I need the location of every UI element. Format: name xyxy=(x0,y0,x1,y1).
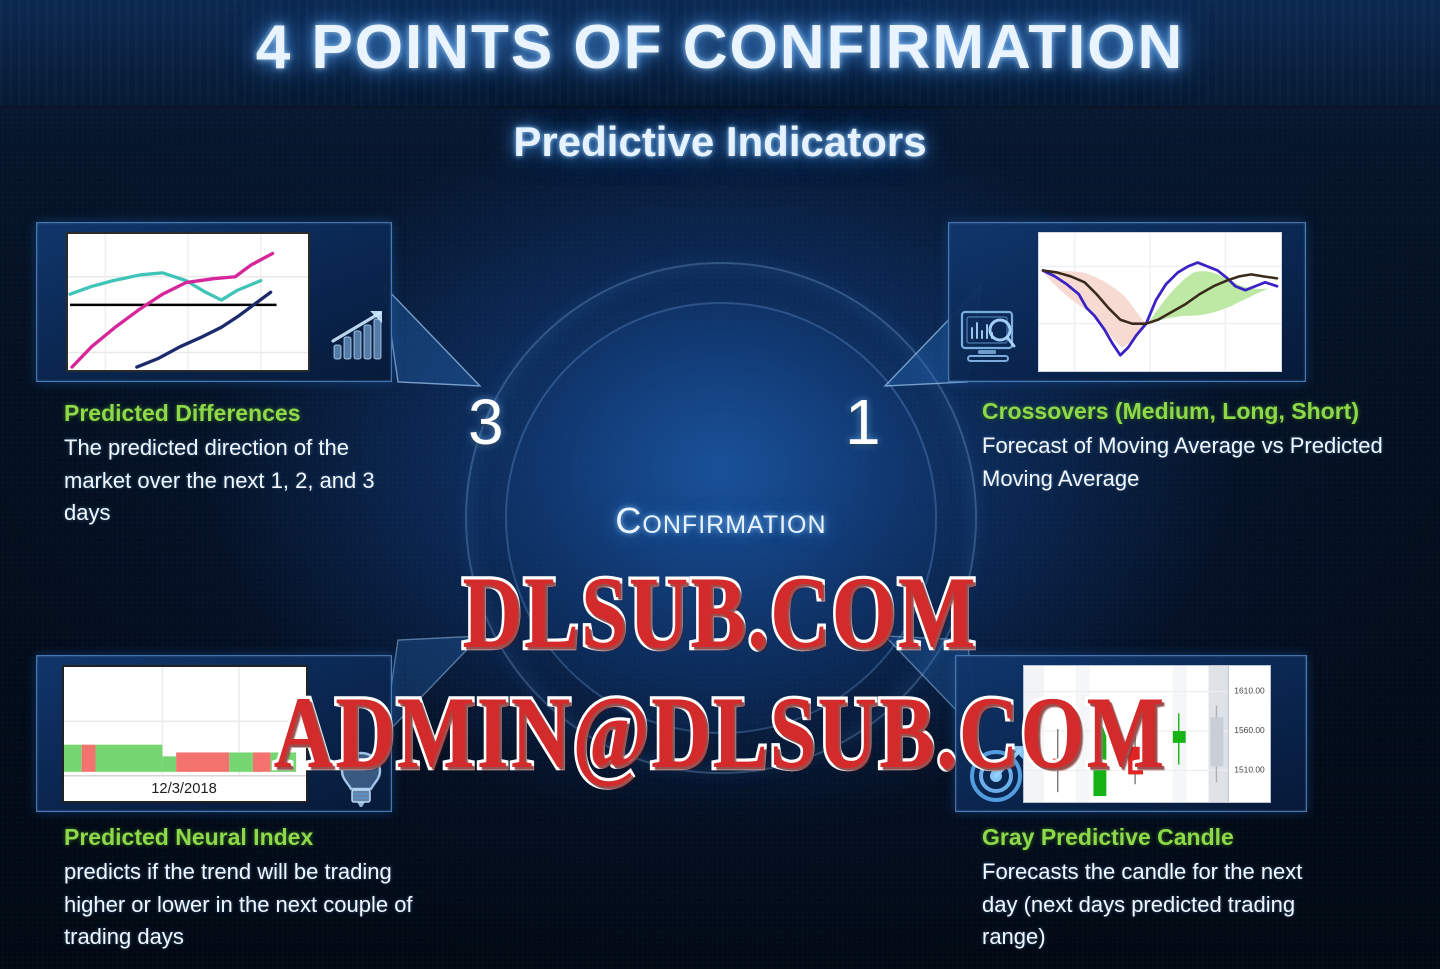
caption-gray-predictive-candle: Gray Predictive Candle Forecasts the can… xyxy=(982,824,1332,954)
caption-title: Gray Predictive Candle xyxy=(982,824,1332,851)
caption-predicted-differences: Predicted Differences The predicted dire… xyxy=(64,400,394,530)
chart-predicted-differences xyxy=(66,232,310,372)
caption-body: predicts if the trend will be trading hi… xyxy=(64,856,424,954)
slide-canvas: 4 POINTS OF CONFIRMATION Predictive Indi… xyxy=(0,0,1440,969)
watermark-site: DLSUB.COM xyxy=(0,556,1440,672)
page-title: 4 POINTS OF CONFIRMATION xyxy=(0,12,1440,83)
caption-title: Predicted Differences xyxy=(64,400,394,427)
point-number-3: 3 xyxy=(468,385,504,459)
point-number-1: 1 xyxy=(845,385,881,459)
panel-crossovers[interactable] xyxy=(948,222,1306,382)
caption-body: Forecast of Moving Average vs Predicted … xyxy=(982,430,1422,495)
caption-title: Crossovers (Medium, Long, Short) xyxy=(982,398,1422,425)
caption-crossovers: Crossovers (Medium, Long, Short) Forecas… xyxy=(982,398,1422,495)
chart-crossovers xyxy=(1038,232,1282,372)
caption-predicted-neural-index: Predicted Neural Index predicts if the t… xyxy=(64,824,424,954)
center-label: Confirmation xyxy=(465,500,977,542)
panel-predicted-differences[interactable] xyxy=(36,222,392,382)
watermark-email: ADMIN@DLSUB.COM xyxy=(0,676,1440,792)
page-subtitle: Predictive Indicators xyxy=(0,118,1440,166)
caption-title: Predicted Neural Index xyxy=(64,824,424,851)
caption-body: The predicted direction of the market ov… xyxy=(64,432,394,530)
caption-body: Forecasts the candle for the next day (n… xyxy=(982,856,1332,954)
